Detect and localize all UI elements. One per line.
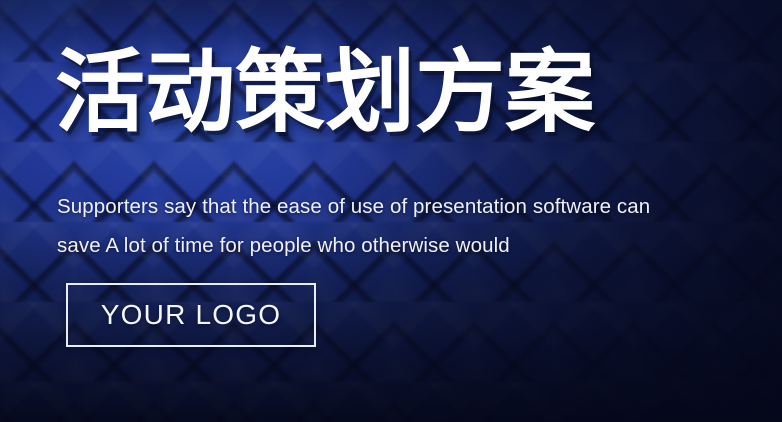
slide-title: 活动策划方案 xyxy=(55,48,595,138)
logo-placeholder-label: YOUR LOGO xyxy=(101,299,281,331)
slide-content: 活动策划方案 Supporters say that the ease of u… xyxy=(0,0,782,422)
slide-subtitle: Supporters say that the ease of use of p… xyxy=(57,187,757,265)
logo-placeholder-box[interactable]: YOUR LOGO xyxy=(66,283,316,347)
subtitle-line-2: save A lot of time for people who otherw… xyxy=(57,226,757,265)
presentation-slide: 活动策划方案 Supporters say that the ease of u… xyxy=(0,0,782,422)
subtitle-line-1: Supporters say that the ease of use of p… xyxy=(57,187,757,226)
